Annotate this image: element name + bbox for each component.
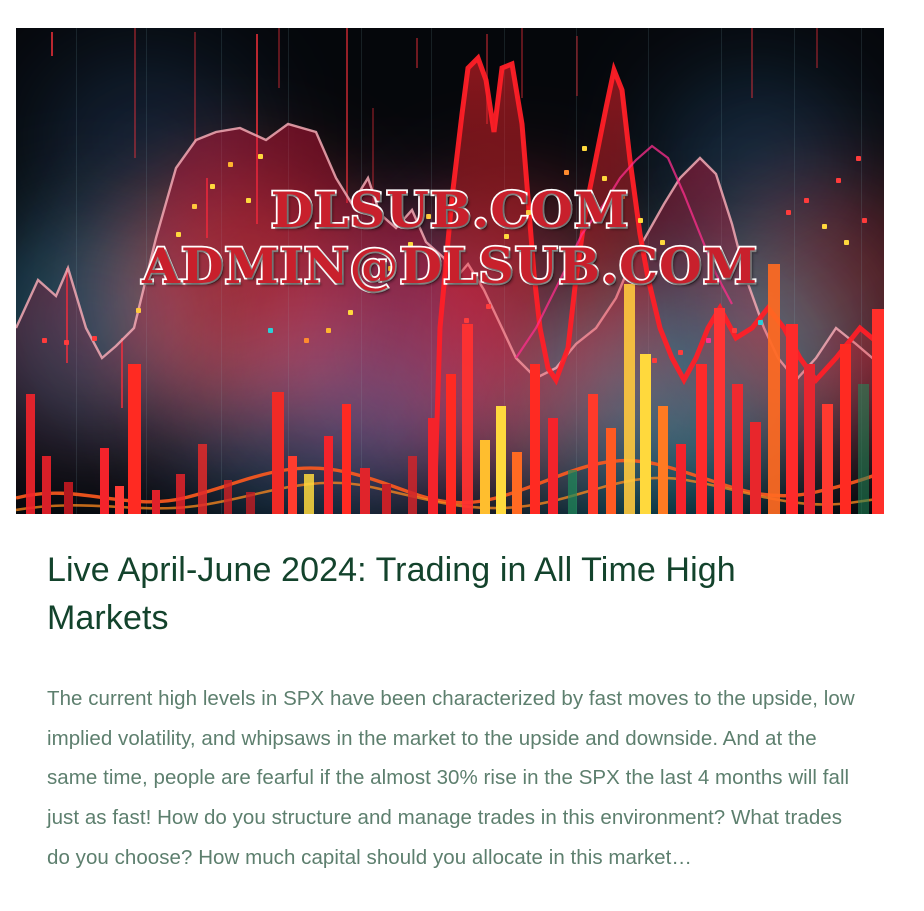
chart-bar	[288, 456, 297, 514]
chart-bar	[480, 440, 490, 514]
chart-bar	[115, 486, 124, 514]
data-dot	[64, 340, 69, 345]
chart-bar	[548, 418, 558, 514]
chart-bar	[224, 480, 232, 514]
chart-bar	[530, 364, 540, 514]
chart-bar	[858, 384, 869, 514]
chart-bar	[606, 428, 616, 514]
data-dot	[758, 320, 763, 325]
data-dot	[246, 198, 251, 203]
post-excerpt: The current high levels in SPX have been…	[47, 643, 865, 879]
chart-bar	[768, 264, 780, 514]
data-dot	[546, 190, 551, 195]
chart-bar	[676, 444, 686, 514]
data-dot	[602, 176, 607, 181]
data-dot	[444, 192, 449, 197]
chart-bar	[198, 444, 207, 514]
data-dot	[158, 250, 163, 255]
data-dot	[660, 240, 665, 245]
data-dot	[678, 350, 683, 355]
data-dot	[304, 338, 309, 343]
chart-bar	[804, 364, 815, 514]
chart-bar	[568, 470, 577, 514]
chart-bar	[26, 394, 35, 514]
chart-bar	[696, 364, 707, 514]
data-dot	[426, 214, 431, 219]
data-dot	[146, 278, 151, 283]
chart-bar	[246, 492, 255, 514]
data-dot	[706, 338, 711, 343]
post-card[interactable]: DLSUB.COM ADMIN@DLSUB.COM Live April-Jun…	[0, 0, 924, 911]
chart-bar	[100, 448, 109, 514]
chart-bar	[272, 392, 284, 514]
chart-bar	[640, 354, 651, 514]
data-dot	[856, 156, 861, 161]
chart-bar	[42, 456, 51, 514]
data-dot	[504, 234, 509, 239]
data-dot	[732, 328, 737, 333]
chart-bar	[408, 456, 417, 514]
chart-bar	[446, 374, 456, 514]
data-dot	[348, 310, 353, 315]
chart-bar	[840, 344, 851, 514]
data-dot	[862, 218, 867, 223]
chart-bar	[304, 474, 314, 514]
chart-bar	[872, 309, 884, 514]
data-dot	[822, 224, 827, 229]
chart-bar	[624, 284, 635, 514]
chart-bar	[176, 474, 185, 514]
chart-bar	[512, 452, 522, 514]
data-dot	[620, 194, 625, 199]
post-content: Live April-June 2024: Trading in All Tim…	[47, 546, 865, 878]
hero-image[interactable]: DLSUB.COM ADMIN@DLSUB.COM	[16, 28, 884, 514]
chart-bar	[152, 490, 160, 514]
chart-bar	[128, 364, 141, 514]
post-title[interactable]: Live April-June 2024: Trading in All Tim…	[47, 546, 865, 643]
data-dot	[464, 318, 469, 323]
data-dot	[526, 210, 531, 215]
data-dot	[92, 336, 97, 341]
data-dot	[42, 338, 47, 343]
data-dot	[210, 184, 215, 189]
data-dot	[228, 162, 233, 167]
data-dot	[638, 218, 643, 223]
data-dot	[176, 232, 181, 237]
chart-bar	[462, 324, 473, 514]
data-dot	[368, 288, 373, 293]
chart-bar	[732, 384, 743, 514]
data-dot	[786, 210, 791, 215]
data-dot	[388, 266, 393, 271]
data-dot	[258, 154, 263, 159]
chart-bar	[324, 436, 333, 514]
data-dot	[408, 242, 413, 247]
chart-bar	[786, 324, 798, 514]
data-dot	[486, 304, 491, 309]
chart-bar	[496, 406, 506, 514]
chart-bar	[360, 468, 370, 514]
data-dot	[582, 146, 587, 151]
data-dot	[268, 328, 273, 333]
data-dot	[652, 358, 657, 363]
data-dot	[844, 240, 849, 245]
data-dot	[804, 198, 809, 203]
chart-bar	[64, 482, 73, 514]
data-dot	[136, 308, 141, 313]
chart-bar	[750, 422, 761, 514]
data-dot	[564, 170, 569, 175]
data-dot	[192, 204, 197, 209]
chart-bar	[822, 404, 833, 514]
chart-bar	[588, 394, 598, 514]
chart-bar	[714, 308, 725, 514]
data-dot	[836, 178, 841, 183]
chart-bar	[382, 484, 391, 514]
hero-artwork	[16, 28, 884, 514]
chart-bar	[342, 404, 351, 514]
data-dot	[326, 328, 331, 333]
chart-bar	[658, 406, 668, 514]
chart-bar	[428, 418, 438, 514]
